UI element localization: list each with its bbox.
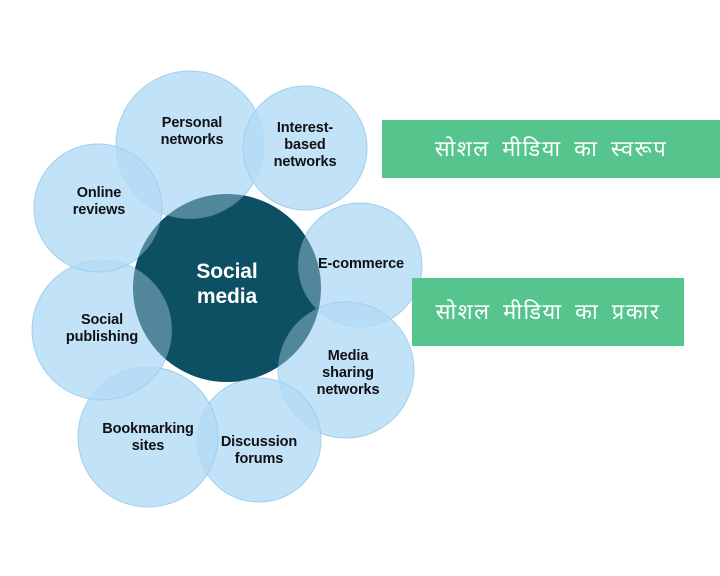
petal-circle-interest-based-networks[interactable] (243, 86, 367, 210)
center-core-shape (133, 194, 321, 382)
banner-social-media-prakar: सोशल मीडिया का प्रकार (412, 278, 684, 346)
banner-social-media-swaroop: सोशल मीडिया का स्वरूप (382, 120, 720, 178)
slide-canvas: Personal networksInterest- based network… (0, 0, 720, 576)
petal-diagram-graphic (0, 0, 440, 576)
social-media-petal-diagram: Personal networksInterest- based network… (0, 0, 440, 576)
